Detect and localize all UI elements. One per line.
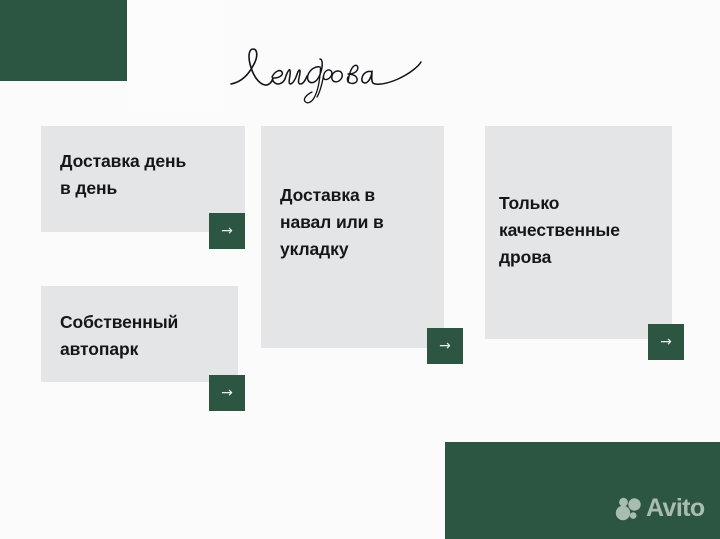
avito-wordmark: Avito (646, 496, 705, 521)
feature-card-title: Собственный автопарк (60, 309, 236, 363)
arrow-right-icon: → (221, 224, 233, 238)
feature-card-title: Доставка день в день (60, 148, 240, 202)
feature-card-own-vehicle-fleet[interactable]: Собственный автопарк (41, 286, 238, 382)
green-rectangle-bottom-right (445, 442, 720, 539)
feature-card-arrow-button-quality-firewood-only[interactable]: → (648, 324, 684, 360)
feature-card-title: Только качественные дрова (499, 190, 671, 271)
arrow-right-icon: → (439, 339, 451, 353)
feature-card-bulk-or-stacked-delivery[interactable]: Доставка в навал или в укладку (261, 126, 444, 348)
feature-card-arrow-button-own-vehicle-fleet[interactable]: → (209, 375, 245, 411)
lendrova-script-logo (222, 36, 432, 104)
avito-dots-logo (615, 497, 642, 521)
background-band (127, 0, 225, 112)
slide-canvas: Доставка день в день → Доставка в навал … (0, 0, 720, 539)
arrow-right-icon: → (221, 386, 233, 400)
feature-card-title: Доставка в навал или в укладку (280, 182, 440, 263)
feature-card-quality-firewood-only[interactable]: Только качественные дрова (485, 126, 672, 339)
green-rectangle-top-left (0, 0, 127, 81)
feature-card-arrow-button-bulk-or-stacked-delivery[interactable]: → (427, 328, 463, 364)
feature-card-arrow-button-same-day-delivery[interactable]: → (209, 213, 245, 249)
avito-watermark: Avito (615, 496, 705, 521)
arrow-right-icon: → (660, 335, 672, 349)
